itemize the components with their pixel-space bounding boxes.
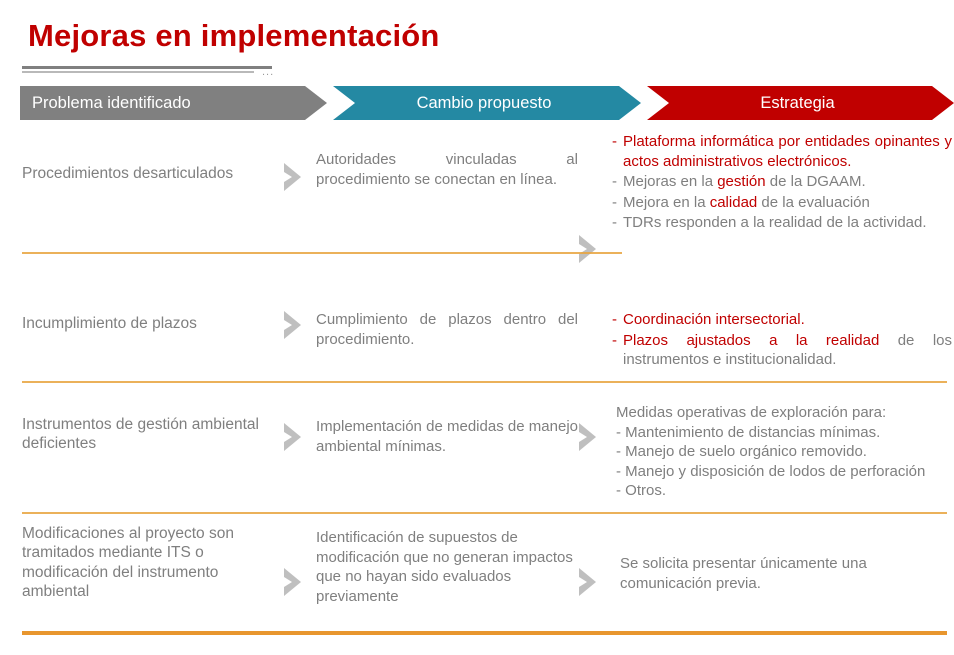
table-body: Procedimientos desarticulados Autoridade… — [0, 122, 954, 632]
strategy-line: - Otros. — [616, 481, 954, 501]
chevron-right-icon — [283, 567, 305, 597]
bullet-dash: - — [612, 331, 617, 370]
strategy-bullet: - Mejoras en la gestión de la DGAAM. — [612, 172, 952, 192]
row2-strategy: - Coordinación intersectorial. - Plazos … — [612, 310, 952, 371]
row4-strategy-text: Se solicita presentar únicamente una com… — [620, 555, 867, 592]
row3-problem-text: Instrumentos de gestión ambiental defici… — [22, 416, 259, 452]
strategy-bullet: - Mejora en la calidad de la evaluación — [612, 193, 952, 213]
row4-problem-text: Modificaciones al proyecto son tramitado… — [22, 525, 234, 600]
page-title: Mejoras en implementación — [28, 18, 440, 54]
chevron-right-icon — [578, 567, 600, 597]
chevron-right-icon — [578, 422, 600, 452]
header-col-cambio: Cambio propuesto — [311, 86, 641, 120]
row-divider — [22, 381, 947, 383]
title-underline — [22, 66, 272, 69]
bullet-text-highlight: gestión — [717, 173, 765, 190]
row4-strategy: Se solicita presentar únicamente una com… — [620, 554, 940, 593]
header-col-problema-label: Problema identificado — [32, 94, 191, 113]
strategy-bullet: - TDRs responden a la realidad de la act… — [612, 213, 952, 233]
bullet-text-pre: Mejora en la — [623, 194, 710, 211]
row1-change-text: Autoridades vinculadas al procedimiento … — [316, 151, 578, 188]
row3-strategy: Medidas operativas de exploración para: … — [616, 403, 954, 501]
row3-change-text: Implementación de medidas de manejo ambi… — [316, 418, 578, 455]
bullet-dash: - — [612, 132, 617, 171]
row2-change-text: Cumplimiento de plazos dentro del proced… — [316, 311, 578, 348]
row-divider — [22, 512, 947, 514]
strategy-line: - Manejo y disposición de lodos de perfo… — [616, 462, 954, 482]
slide: Mejoras en implementación ... Problema i… — [0, 0, 954, 655]
chevron-right-icon — [283, 422, 305, 452]
title-underline-secondary — [22, 71, 254, 73]
chevron-right-icon — [283, 310, 305, 340]
row-divider — [22, 252, 622, 254]
bullet-dash: - — [612, 310, 617, 330]
header-col-estrategia: Estrategia — [625, 86, 954, 120]
bullet-dash: - — [612, 193, 617, 213]
bullet-text: Plazos ajustados a la realidad de los in… — [623, 331, 952, 370]
row1-change: Autoridades vinculadas al procedimiento … — [316, 150, 578, 189]
strategy-bullet: - Plataforma informática por entidades o… — [612, 132, 952, 171]
row2-change: Cumplimiento de plazos dentro del proced… — [316, 310, 578, 349]
bullet-text-highlight: calidad — [710, 194, 758, 211]
header-col-estrategia-label: Estrategia — [760, 94, 834, 113]
strategy-heading: Medidas operativas de exploración para: — [616, 403, 954, 423]
row4-change: Identificación de supuestos de modificac… — [316, 528, 578, 606]
bottom-accent-bar — [22, 631, 947, 635]
title-dots: ... — [262, 66, 274, 78]
strategy-line: - Manejo de suelo orgánico removido. — [616, 442, 954, 462]
chevron-right-icon — [578, 234, 600, 264]
bullet-text-post: de la evaluación — [757, 194, 870, 211]
header-col-cambio-label: Cambio propuesto — [417, 94, 552, 113]
row2-problem-text: Incumplimiento de plazos — [22, 315, 197, 332]
strategy-bullet: - Coordinación intersectorial. — [612, 310, 952, 330]
row1-strategy: - Plataforma informática por entidades o… — [612, 132, 952, 234]
bullet-dash: - — [612, 172, 617, 192]
strategy-bullet: - Plazos ajustados a la realidad de los … — [612, 331, 952, 370]
bullet-text-post: de la DGAAM. — [766, 173, 866, 190]
row1-problem: Procedimientos desarticulados — [22, 164, 272, 183]
bullet-text: Plataforma informática por entidades opi… — [623, 132, 952, 171]
header-col-problema: Problema identificado — [20, 86, 327, 120]
row3-problem: Instrumentos de gestión ambiental defici… — [22, 415, 272, 454]
row4-problem: Modificaciones al proyecto son tramitado… — [22, 524, 272, 602]
row3-change: Implementación de medidas de manejo ambi… — [316, 417, 578, 456]
bullet-text-highlight: Plazos ajustados a la realidad — [623, 332, 879, 349]
bullet-text: Mejoras en la gestión de la DGAAM. — [623, 172, 952, 192]
bullet-text: Mejora en la calidad de la evaluación — [623, 193, 952, 213]
bullet-text-pre: Mejoras en la — [623, 173, 717, 190]
row2-problem: Incumplimiento de plazos — [22, 314, 272, 333]
bullet-text: TDRs responden a la realidad de la activ… — [623, 213, 952, 233]
strategy-line: - Mantenimiento de distancias mínimas. — [616, 423, 954, 443]
row1-problem-text: Procedimientos desarticulados — [22, 165, 233, 182]
chevron-right-icon — [283, 162, 305, 192]
bullet-text: Coordinación intersectorial. — [623, 310, 952, 330]
bullet-dash: - — [612, 213, 617, 233]
row4-change-text: Identificación de supuestos de modificac… — [316, 529, 573, 605]
